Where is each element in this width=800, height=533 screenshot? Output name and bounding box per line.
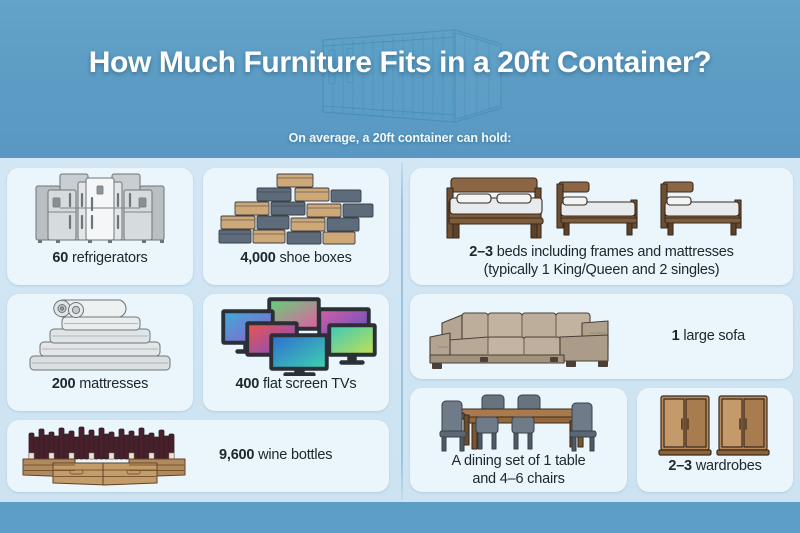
header-banner: How Much Furniture Fits in a 20ft Contai…	[0, 0, 800, 158]
stat-label: flat screen TVs	[263, 376, 356, 392]
stat-caption: 400 flat screen TVs	[236, 376, 357, 394]
stat-sublabel: (typically 1 King/Queen and 2 singles)	[469, 262, 733, 280]
refrigerators-icon	[20, 168, 180, 248]
dining-set-icon	[430, 391, 608, 453]
stat-amount: 400	[236, 376, 260, 392]
stat-label: wine bottles	[258, 447, 332, 463]
stat-card-tvs[interactable]: 400 flat screen TVs	[203, 294, 389, 411]
column-divider	[401, 162, 403, 500]
stat-amount: 9,600	[219, 447, 254, 463]
stat-card-winebottles[interactable]: 9,600 wine bottles	[7, 420, 389, 492]
stat-caption: 2–3 beds including frames and mattresses…	[469, 244, 733, 279]
stat-label: A dining set of 1 table	[451, 453, 585, 471]
stat-card-shoeboxes[interactable]: 4,000 shoe boxes	[203, 168, 389, 285]
stat-card-beds[interactable]: 2–3 beds including frames and mattresses…	[410, 168, 793, 285]
content-board: 60 refrigerators	[0, 158, 800, 502]
stat-label: mattresses	[79, 376, 148, 392]
stat-label: shoe boxes	[279, 250, 351, 266]
stat-sublabel: and 4–6 chairs	[451, 471, 585, 489]
stat-amount: 60	[52, 250, 68, 266]
stat-caption: A dining set of 1 table and 4–6 chairs	[451, 453, 585, 488]
shoe-boxes-icon	[213, 168, 379, 248]
footer-strip	[0, 502, 800, 533]
stat-label: beds including frames and mattresses	[497, 244, 734, 260]
stat-label: wardrobes	[696, 458, 762, 474]
page-title: How Much Furniture Fits in a 20ft Contai…	[0, 46, 800, 80]
stat-caption: 200 mattresses	[52, 376, 148, 394]
mattresses-icon	[20, 294, 180, 374]
stat-amount: 4,000	[240, 250, 275, 266]
stat-label: refrigerators	[72, 250, 148, 266]
stat-card-refrigerators[interactable]: 60 refrigerators	[7, 168, 193, 285]
stat-caption: 60 refrigerators	[52, 250, 147, 268]
stat-caption: 4,000 shoe boxes	[240, 250, 351, 268]
stat-caption: 9,600 wine bottles	[219, 447, 332, 465]
stat-card-mattresses[interactable]: 200 mattresses	[7, 294, 193, 411]
stat-caption: 1 large sofa	[672, 328, 745, 346]
stat-card-wardrobes[interactable]: 2–3 wardrobes	[637, 388, 793, 492]
stat-amount: 2–3	[469, 244, 493, 260]
wardrobes-icon	[655, 392, 775, 458]
sectional-sofa-icon	[422, 303, 622, 371]
stat-amount: 2–3	[668, 458, 692, 474]
flat-screen-tvs-icon	[212, 294, 380, 376]
stat-card-sofa[interactable]: 1 large sofa	[410, 294, 793, 379]
stat-card-dining[interactable]: A dining set of 1 table and 4–6 chairs	[410, 388, 627, 492]
stat-amount: 200	[52, 376, 76, 392]
stat-amount: 1	[672, 328, 680, 344]
wine-crates-icon	[17, 423, 193, 489]
stat-label: large sofa	[683, 328, 745, 344]
stat-caption: 2–3 wardrobes	[668, 458, 761, 476]
infographic-root: How Much Furniture Fits in a 20ft Contai…	[0, 0, 800, 533]
beds-icon	[427, 172, 777, 244]
page-subtitle: On average, a 20ft container can hold:	[0, 131, 800, 145]
